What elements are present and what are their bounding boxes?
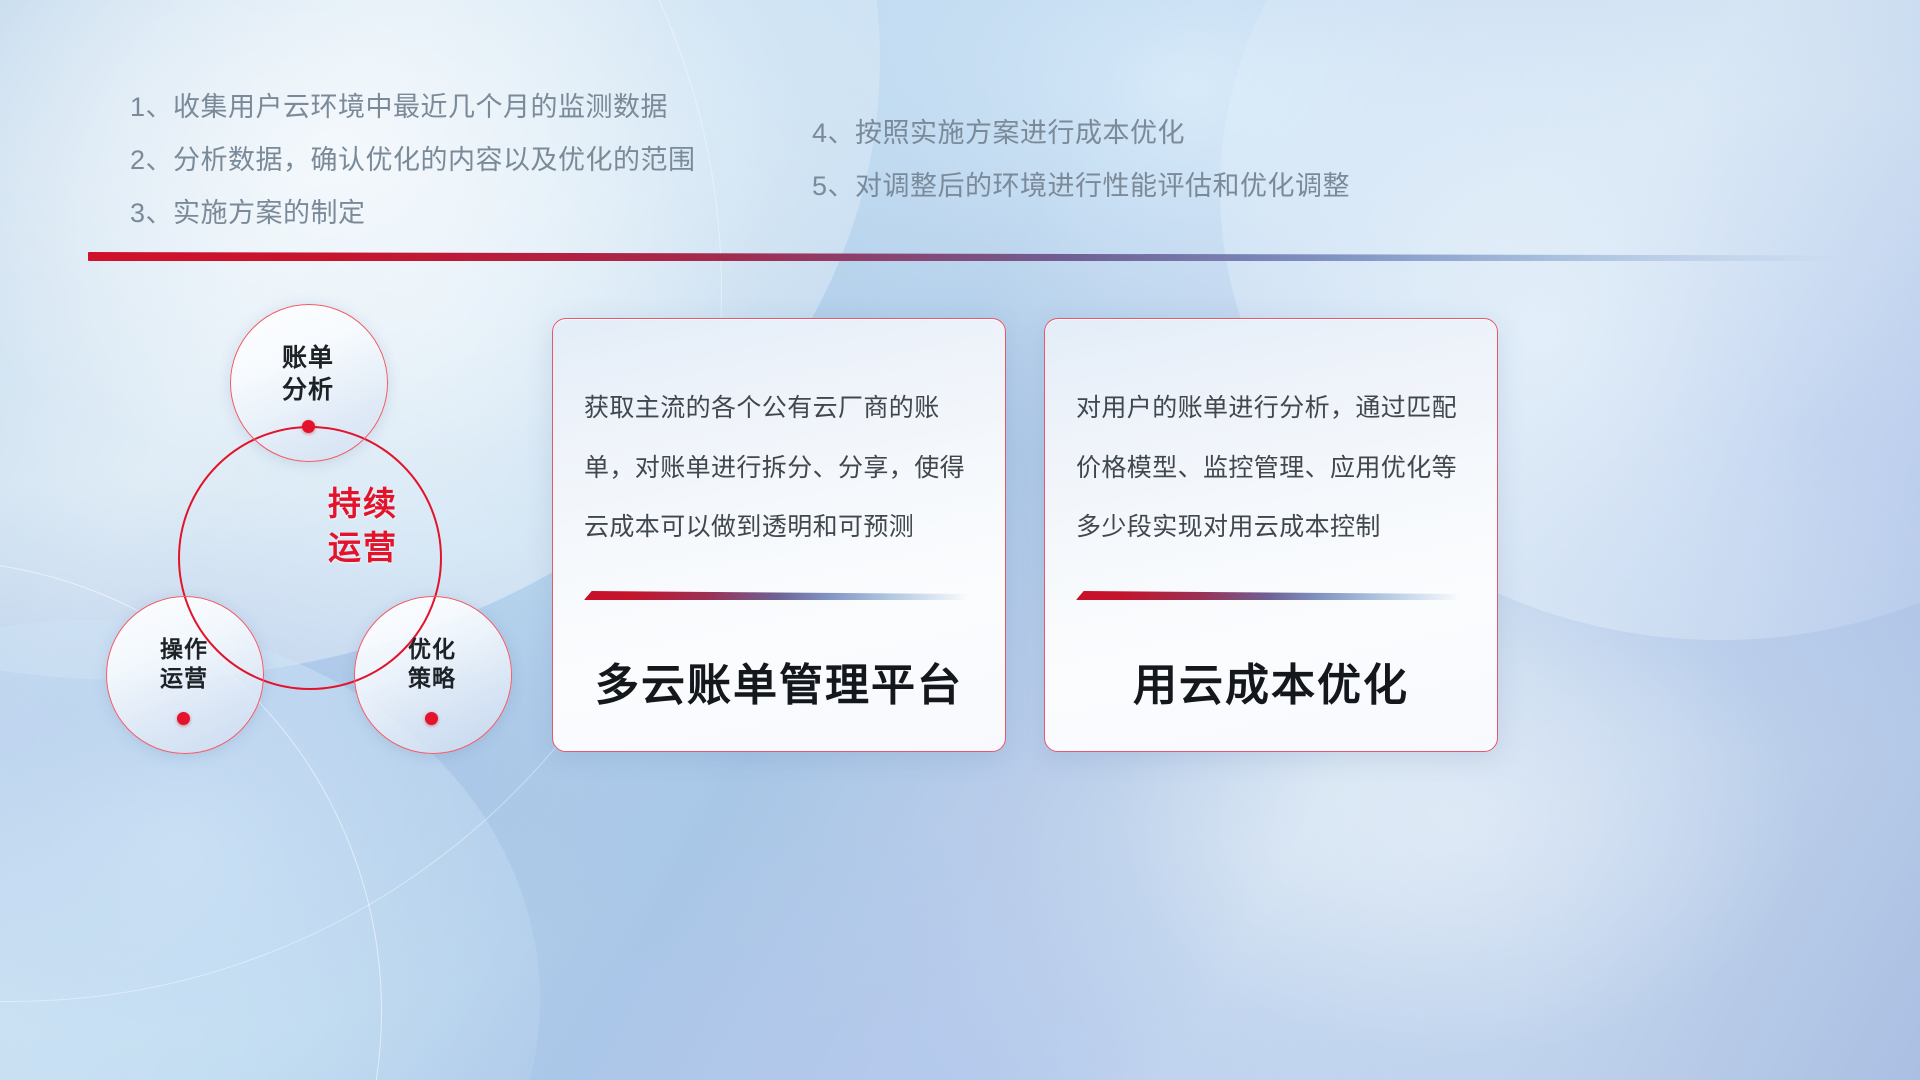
process-step-item: 2、分析数据，确认优化的内容以及优化的范围 (130, 147, 696, 174)
venn-label-operations: 操作 运营 (104, 635, 264, 693)
feature-card-divider (1076, 591, 1461, 600)
venn-node-dot-top (302, 420, 315, 433)
feature-card-body: 对用户的账单进行分析，通过匹配价格模型、监控管理、应用优化等多少段实现对用云成本… (1076, 379, 1469, 558)
venn-label-billing-analysis: 账单 分析 (228, 343, 388, 406)
feature-card-body: 获取主流的各个公有云厂商的账单，对账单进行拆分、分享，使得云成本可以做到透明和可… (584, 379, 977, 558)
venn-label-line: 账单 (228, 343, 388, 375)
venn-node-dot-bottom-right (425, 712, 438, 725)
venn-center-label-line: 运营 (263, 526, 463, 570)
venn-label-line: 运营 (104, 664, 264, 693)
feature-card-multi-cloud-billing[interactable]: 获取主流的各个公有云厂商的账单，对账单进行拆分、分享，使得云成本可以做到透明和可… (552, 318, 1006, 752)
venn-diagram: 账单 分析 操作 运营 优化 策略 持续 运营 (78, 290, 548, 770)
feature-card-title: 多云账单管理平台 (553, 649, 1005, 713)
feature-card-cloud-cost-optimization[interactable]: 对用户的账单进行分析，通过匹配价格模型、监控管理、应用优化等多少段实现对用云成本… (1044, 318, 1498, 752)
venn-node-dot-bottom-left (177, 712, 190, 725)
process-step-item: 1、收集用户云环境中最近几个月的监测数据 (130, 94, 696, 121)
process-steps-right-column: 4、按照实施方案进行成本优化 5、对调整后的环境进行性能评估和优化调整 (812, 120, 1350, 226)
venn-center-label: 持续 运营 (263, 482, 463, 569)
feature-card-title: 用云成本优化 (1045, 649, 1497, 713)
venn-label-line: 分析 (228, 375, 388, 407)
process-step-item: 4、按照实施方案进行成本优化 (812, 120, 1350, 147)
section-divider-rule (88, 252, 1838, 261)
venn-label-line: 策略 (352, 664, 512, 693)
process-steps-left-column: 1、收集用户云环境中最近几个月的监测数据 2、分析数据，确认优化的内容以及优化的… (130, 94, 696, 253)
venn-center-label-line: 持续 (263, 482, 463, 526)
venn-label-line: 操作 (104, 635, 264, 664)
process-step-item: 3、实施方案的制定 (130, 200, 696, 227)
section-divider-gradient-bar (88, 252, 1838, 261)
venn-label-line: 优化 (352, 635, 512, 664)
process-steps: 1、收集用户云环境中最近几个月的监测数据 2、分析数据，确认优化的内容以及优化的… (0, 0, 1920, 250)
venn-label-optimization-strategy: 优化 策略 (352, 635, 512, 693)
feature-card-divider (584, 591, 969, 600)
process-step-item: 5、对调整后的环境进行性能评估和优化调整 (812, 173, 1350, 200)
